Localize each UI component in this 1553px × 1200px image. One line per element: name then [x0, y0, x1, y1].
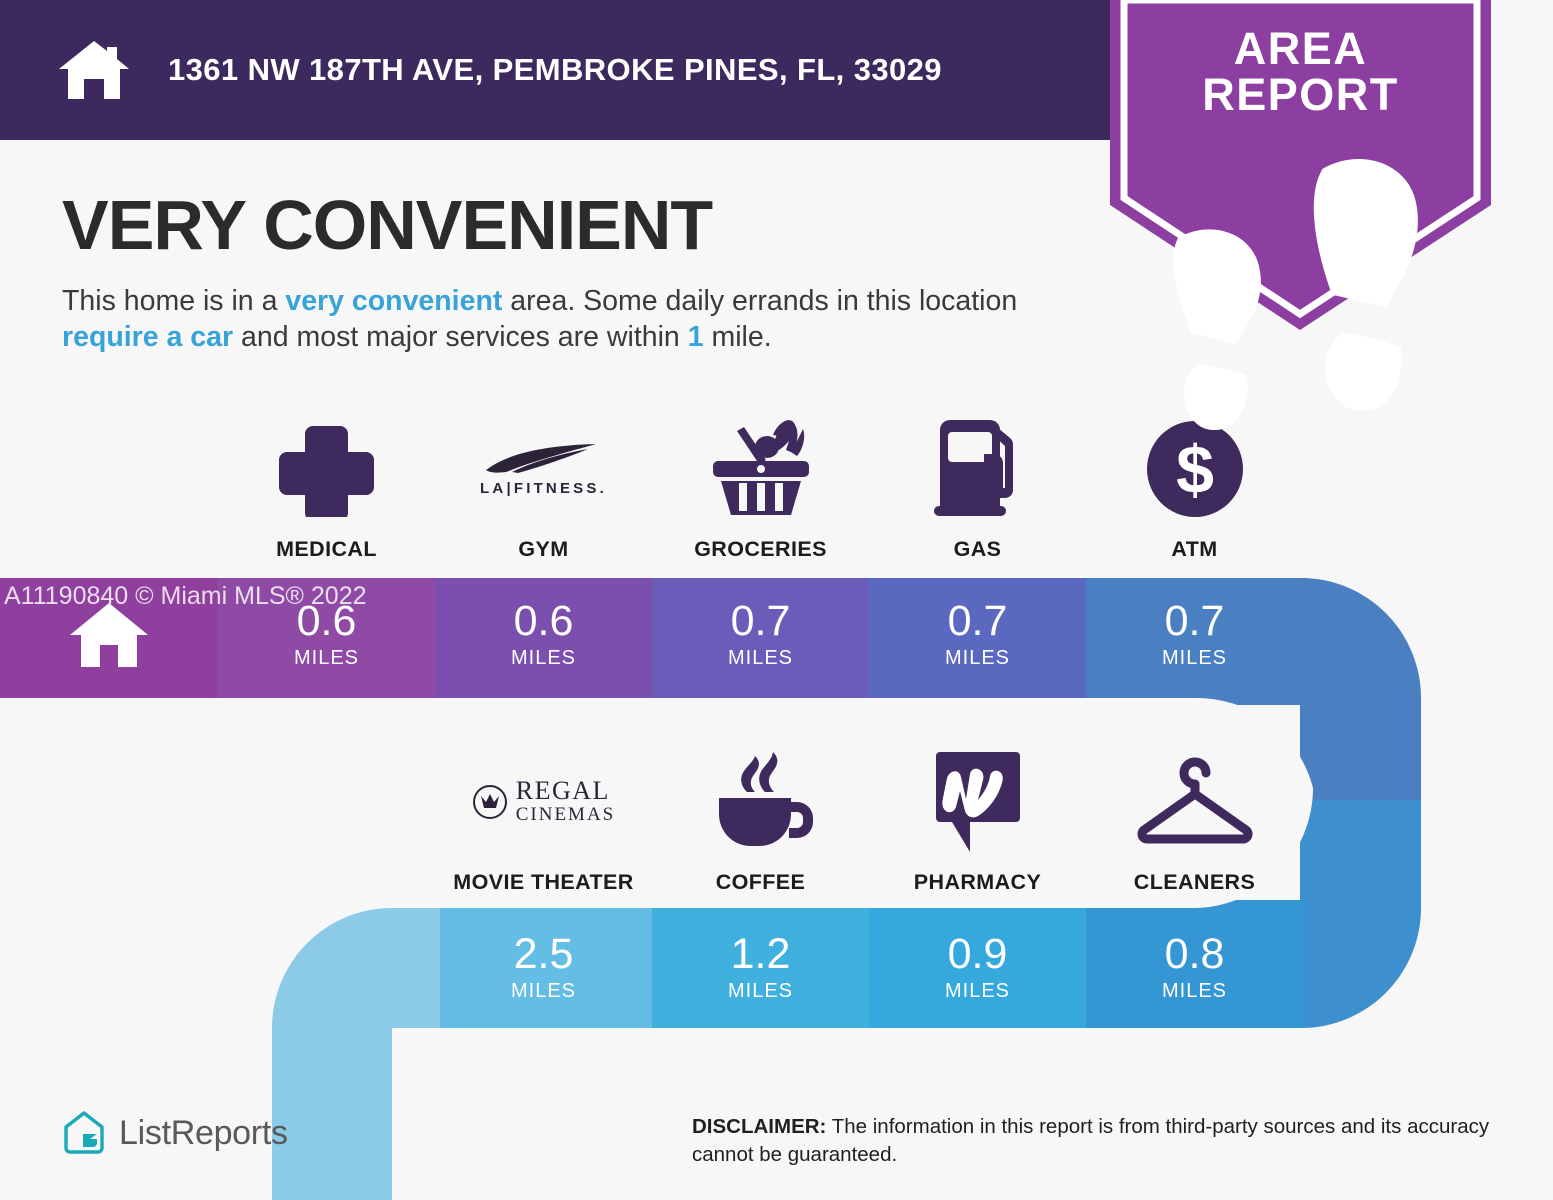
distance-unit: MILES	[511, 980, 576, 1003]
clothes-hanger-icon	[1134, 748, 1256, 856]
distance-unit: MILES	[1162, 980, 1227, 1003]
distance-value: 0.7	[731, 600, 791, 643]
regal-cinemas-logo: REGAL CINEMAS	[472, 748, 616, 856]
disclaimer-label: DISCLAIMER:	[692, 1115, 826, 1138]
distance-value: 0.7	[948, 600, 1008, 643]
amenity-label: ATM	[1171, 537, 1217, 562]
gas-pump-icon	[928, 415, 1028, 523]
regal-word-2: CINEMAS	[516, 804, 616, 827]
area-report-badge: AREA REPORT	[1110, 0, 1491, 330]
distance-cell-coffee: 1.2 MILES	[652, 911, 869, 1025]
distance-unit: MILES	[945, 647, 1010, 670]
distance-cell-cleaners: 0.8 MILES	[1086, 911, 1303, 1025]
ribbon-turn-top	[1300, 570, 1430, 800]
listreports-wordmark: ListReports	[119, 1114, 288, 1153]
la-fitness-wordmark: LA|FITNESS.	[480, 480, 607, 497]
badge-title: AREA REPORT	[1110, 26, 1491, 119]
badge-line-1: AREA	[1110, 26, 1491, 72]
amenity-gym[interactable]: LA|FITNESS. GYM	[435, 415, 652, 562]
amenity-icon-row-2: REGAL CINEMAS MOVIE THEATER COFF	[435, 748, 1303, 895]
disclaimer: DISCLAIMER: The information in this repo…	[692, 1113, 1492, 1170]
distance-value: 0.8	[1165, 933, 1225, 976]
distance-unit: MILES	[511, 647, 576, 670]
distance-cell-gym: 0.6 MILES	[435, 578, 652, 692]
amenity-label: PHARMACY	[914, 870, 1041, 895]
distance-cell-gas: 0.7 MILES	[869, 578, 1086, 692]
distance-value: 0.9	[948, 933, 1008, 976]
amenity-label: MOVIE THEATER	[453, 870, 633, 895]
distance-cell-pharmacy: 0.9 MILES	[869, 911, 1086, 1025]
amenity-medical[interactable]: MEDICAL	[218, 415, 435, 562]
badge-line-2: REPORT	[1110, 72, 1491, 118]
amenity-label: CLEANERS	[1134, 870, 1255, 895]
header-bar: 1361 NW 187TH AVE, PEMBROKE PINES, FL, 3…	[0, 0, 1110, 140]
distance-unit: MILES	[728, 647, 793, 670]
amenity-cleaners[interactable]: CLEANERS	[1086, 748, 1303, 895]
listreports-house-icon	[62, 1110, 106, 1156]
amenity-coffee[interactable]: COFFEE	[652, 748, 869, 895]
amenity-label: GROCERIES	[694, 537, 827, 562]
ribbon-turn-bottom	[1300, 800, 1430, 1040]
amenity-label: GYM	[518, 537, 568, 562]
mls-watermark: A11190840 © Miami MLS® 2022	[4, 582, 367, 611]
distance-unit: MILES	[294, 647, 359, 670]
amenity-label: MEDICAL	[276, 537, 377, 562]
regal-word-1: REGAL	[516, 778, 616, 804]
distance-cell-movie-theater: 2.5 MILES	[435, 911, 652, 1025]
amenity-pharmacy[interactable]: PHARMACY	[869, 748, 1086, 895]
distance-unit: MILES	[1162, 647, 1227, 670]
amenity-groceries[interactable]: GROCERIES	[652, 415, 869, 562]
home-icon	[55, 39, 133, 101]
distance-value: 0.6	[514, 600, 574, 643]
medical-cross-icon	[279, 415, 374, 523]
distance-value: 0.7	[1165, 600, 1225, 643]
distance-row-1: 0.6 MILES 0.6 MILES 0.7 MILES 0.7 MILES …	[218, 578, 1303, 692]
coffee-cup-icon	[709, 748, 813, 856]
amenity-movie-theater[interactable]: REGAL CINEMAS MOVIE THEATER	[435, 748, 652, 895]
walgreens-w-logo	[930, 748, 1026, 856]
regal-crown-icon	[472, 784, 508, 820]
property-address: 1361 NW 187TH AVE, PEMBROKE PINES, FL, 3…	[168, 52, 942, 88]
distance-row-2: 2.5 MILES 1.2 MILES 0.9 MILES 0.8 MILES	[435, 911, 1303, 1025]
distance-value: 1.2	[731, 933, 791, 976]
grocery-basket-icon	[707, 415, 815, 523]
amenity-label: GAS	[954, 537, 1002, 562]
la-fitness-logo: LA|FITNESS.	[480, 415, 607, 523]
distance-unit: MILES	[728, 980, 793, 1003]
distance-value: 2.5	[514, 933, 574, 976]
listreports-logo[interactable]: ListReports	[62, 1110, 288, 1156]
area-report-page: 1361 NW 187TH AVE, PEMBROKE PINES, FL, 3…	[0, 0, 1553, 1200]
amenity-gas[interactable]: GAS	[869, 415, 1086, 562]
distance-cell-groceries: 0.7 MILES	[652, 578, 869, 692]
footprints-icon	[1110, 150, 1491, 480]
distance-cell-atm: 0.7 MILES	[1086, 578, 1303, 692]
distance-unit: MILES	[945, 980, 1010, 1003]
amenity-label: COFFEE	[716, 870, 806, 895]
